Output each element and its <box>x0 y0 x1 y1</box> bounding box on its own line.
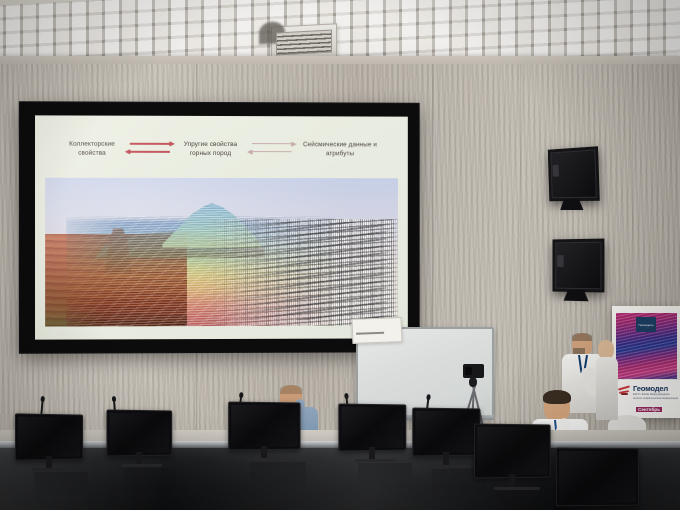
hair <box>572 333 592 341</box>
wall-speaker-top <box>548 146 600 201</box>
ceiling <box>0 0 680 72</box>
torso <box>596 357 618 420</box>
arrow-pair-right <box>245 138 297 160</box>
slide-header: Коллекторские свойства Упругие свойства … <box>35 131 408 166</box>
seismic-traces-overlay <box>230 222 391 320</box>
arrow-pair-left <box>123 138 175 160</box>
hair <box>543 390 571 404</box>
label-elastic-properties: Упругие свойства горных пород <box>175 140 245 159</box>
monitor-4[interactable] <box>338 404 414 468</box>
monitor-3[interactable] <box>228 402 308 466</box>
paper-note <box>352 317 403 344</box>
presentation-slide: Коллекторские свойства Упругие свойства … <box>35 115 408 339</box>
label-seismic-data: Сейсмические данные и атрибуты <box>297 140 382 159</box>
projection-screen[interactable]: Коллекторские свойства Упругие свойства … <box>20 102 419 353</box>
person-attendee-left-edge <box>596 340 618 420</box>
banner-date-badge: Сентябрь <box>636 407 662 412</box>
monitor-6[interactable] <box>474 424 558 496</box>
geomodel-logo-icon <box>618 386 631 394</box>
label-reservoir-properties: Коллекторские свойства <box>61 139 123 158</box>
slide-figure <box>45 178 398 327</box>
banner-brand: Геомодел <box>633 384 668 393</box>
banner-chip-label: Геомодель <box>638 323 653 327</box>
arrow-forward-icon <box>129 143 169 145</box>
arrow-backward-icon <box>251 151 291 152</box>
geomodel-banner: Геомодель Геомодел ЕАГО / EAGE Междунаро… <box>612 306 680 418</box>
wall-speaker-bottom <box>552 239 604 293</box>
arrow-forward-icon <box>251 143 291 144</box>
monitor-2[interactable] <box>106 410 180 472</box>
arrow-backward-icon <box>129 151 169 153</box>
hair <box>280 385 302 394</box>
monitor-1[interactable] <box>14 414 92 476</box>
banner-subtitle: ЕАГО / EAGE Международная геолого-геофиз… <box>633 393 679 401</box>
screenshot-root: Коллекторские свойства Упругие свойства … <box>0 0 680 510</box>
banner-lower-panel: Геомодел ЕАГО / EAGE Международная геоло… <box>612 380 680 418</box>
monitor-7[interactable] <box>556 448 646 510</box>
video-camera-icon <box>463 364 484 378</box>
banner-chip: Геомодель <box>636 317 656 332</box>
